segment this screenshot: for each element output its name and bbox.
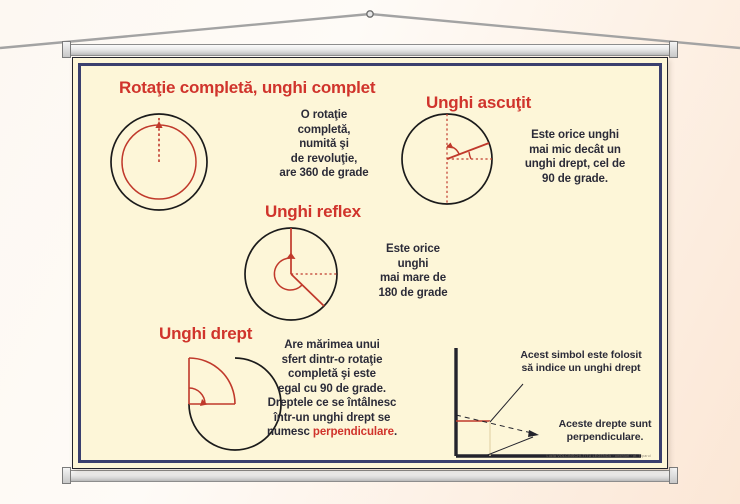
diagram-reflex-angle <box>245 228 337 320</box>
line: mai mic decât un <box>499 143 651 158</box>
line: Are mărimea unui <box>239 338 425 353</box>
line-with-keyword: numesc perpendiculare. <box>239 425 425 440</box>
line: Aceste drepte sunt <box>541 418 669 431</box>
text-simbol-callout: Acest simbol este folosit să indice un u… <box>496 349 666 375</box>
line: într-un unghi drept se <box>239 411 425 426</box>
line-suffix: . <box>394 426 397 438</box>
poster-scene: Rotaţie completă, unghi complet Unghi as… <box>0 0 740 504</box>
heading-unghi-ascutit: Unghi ascuţit <box>426 93 531 113</box>
line: mai mare de <box>353 271 473 286</box>
line: Acest simbol este folosit <box>496 349 666 362</box>
heading-unghi-reflex: Unghi reflex <box>265 202 361 222</box>
line: 180 de grade <box>353 286 473 301</box>
line: sfert dintr-o rotaţie <box>239 353 425 368</box>
line: Este orice unghi <box>499 128 651 143</box>
rod-cap-bottom-right <box>669 467 678 484</box>
poster-sheet: Rotaţie completă, unghi complet Unghi as… <box>72 57 668 469</box>
line: egal cu 90 de grade. <box>239 382 425 397</box>
rod-cap-bottom-left <box>62 467 71 484</box>
line: unghi <box>353 257 473 272</box>
rod-cap-top-right <box>669 41 678 58</box>
text-unghi-drept: Are mărimea unui sfert dintr-o rotaţie c… <box>239 338 425 440</box>
heading-rotatie-completa: Rotaţie completă, unghi complet <box>119 78 375 98</box>
keyword-perpendiculare: perpendiculare <box>313 426 394 438</box>
text-unghi-ascutit: Este orice unghi mai mic decât un unghi … <box>499 128 651 186</box>
diagram-acute-angle <box>402 114 492 204</box>
text-perpendiculare-note: Aceste drepte sunt perpendiculare. <box>541 418 669 444</box>
line: să indice un unghi drept <box>496 362 666 375</box>
text-unghi-reflex: Este orice unghi mai mare de 180 de grad… <box>353 242 473 300</box>
rod-cap-top-left <box>62 41 71 58</box>
line: numită şi <box>249 137 399 152</box>
line-prefix: numesc <box>267 426 313 438</box>
line: unghi drept, cel de <box>499 157 651 172</box>
line: Dreptele ce se întâlnesc <box>239 396 425 411</box>
line: are 360 de grade <box>249 166 399 181</box>
line: completă, <box>249 123 399 138</box>
text-rotatie-completa: O rotaţie completă, numită şi de revoluţ… <box>249 108 399 181</box>
line: O rotaţie <box>249 108 399 123</box>
poster-credit: Lucia VOLCINSCHI-TITU LEGENDĂ · unghiuri… <box>547 454 651 458</box>
line: de revoluţie, <box>249 152 399 167</box>
poster-rod-top <box>68 44 672 56</box>
diagram-full-rotation <box>111 114 207 210</box>
poster-inner-border: Rotaţie completă, unghi complet Unghi as… <box>78 63 662 463</box>
line: completă şi este <box>239 367 425 382</box>
line: 90 de grade. <box>499 172 651 187</box>
line: Este orice <box>353 242 473 257</box>
poster-rod-bottom <box>68 470 672 482</box>
line: perpendiculare. <box>541 431 669 444</box>
